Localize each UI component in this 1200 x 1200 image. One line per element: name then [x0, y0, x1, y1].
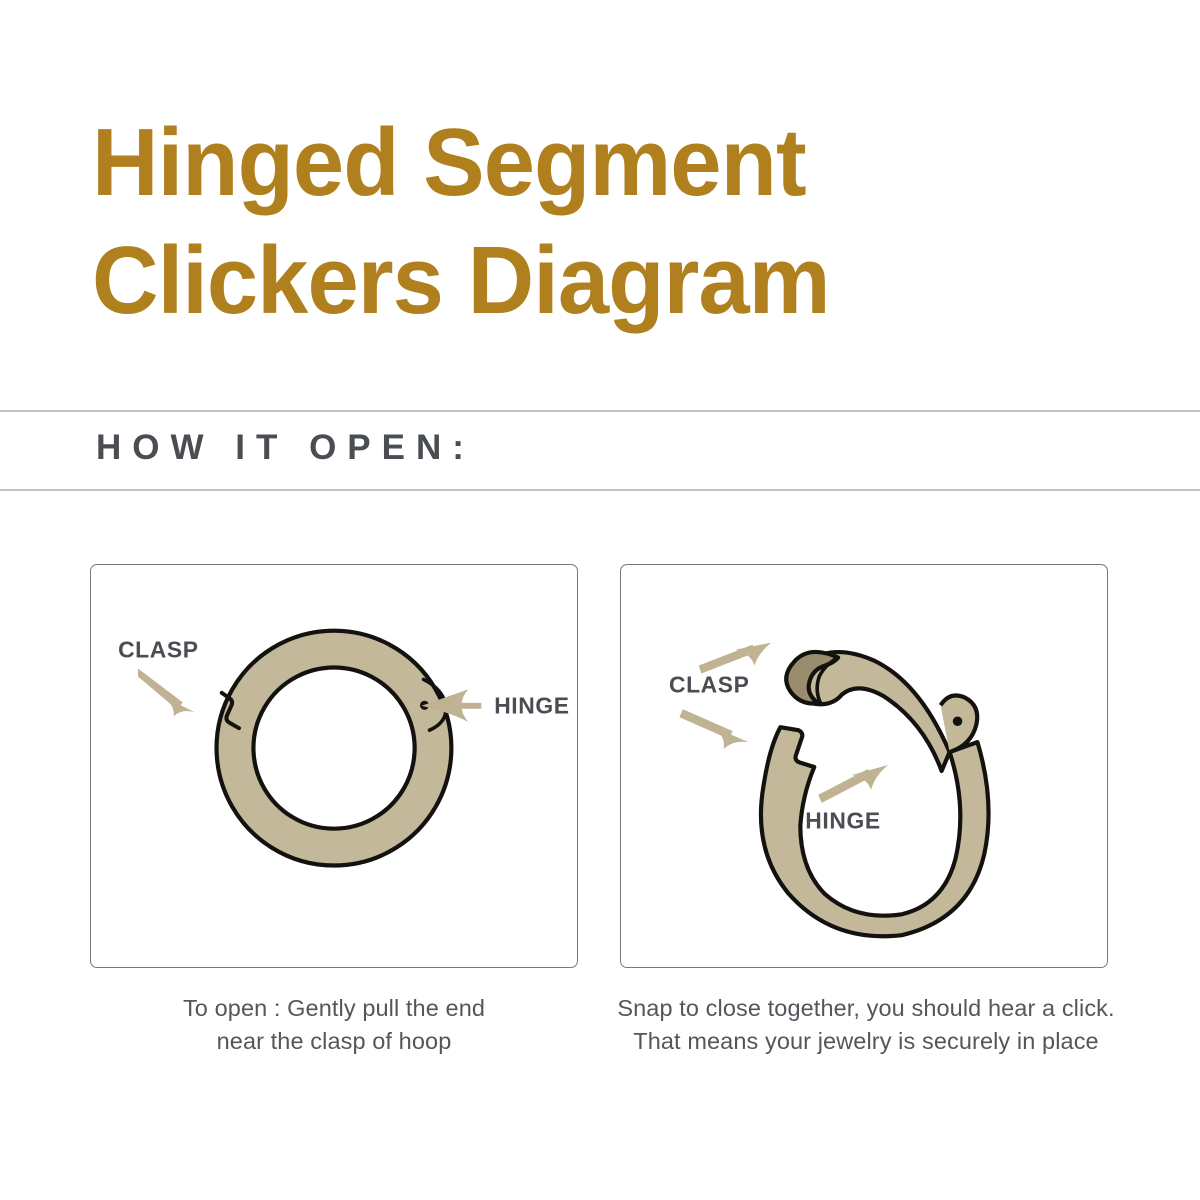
panel-opened-hoop: CLASP HINGE [620, 564, 1108, 968]
divider-top [0, 410, 1200, 412]
panel-closed-hoop: CLASP HINGE [90, 564, 578, 968]
caption-line-1: To open : Gently pull the end [90, 992, 578, 1025]
clasp-arrow-upper-icon [699, 643, 772, 674]
section-heading: HOW IT OPEN: [96, 428, 475, 468]
hinge-arrow-icon [818, 765, 888, 803]
caption-line-2: near the clasp of hoop [90, 1025, 578, 1058]
caption-line-2: That means your jewelry is securely in p… [616, 1025, 1116, 1058]
caption-opened-hoop: Snap to close together, you should hear … [616, 992, 1116, 1058]
caption-line-1: Snap to close together, you should hear … [616, 992, 1116, 1025]
divider-bottom [0, 489, 1200, 491]
clasp-arrow-icon [138, 668, 195, 716]
page-title-line-2: Clickers Diagram [92, 222, 1156, 340]
hinge-label: HINGE [494, 692, 569, 718]
clasp-label: CLASP [669, 671, 750, 697]
hoop-ring-body [217, 631, 452, 866]
hinge-pivot-dot [953, 716, 963, 726]
page-title: Hinged Segment Clickers Diagram [0, 0, 1200, 410]
clasp-label: CLASP [118, 637, 199, 663]
clasp-arrow-lower-icon [679, 709, 748, 749]
page-title-line-1: Hinged Segment [92, 104, 1156, 222]
caption-closed-hoop: To open : Gently pull the end near the c… [90, 992, 578, 1058]
hinge-label: HINGE [805, 808, 880, 834]
